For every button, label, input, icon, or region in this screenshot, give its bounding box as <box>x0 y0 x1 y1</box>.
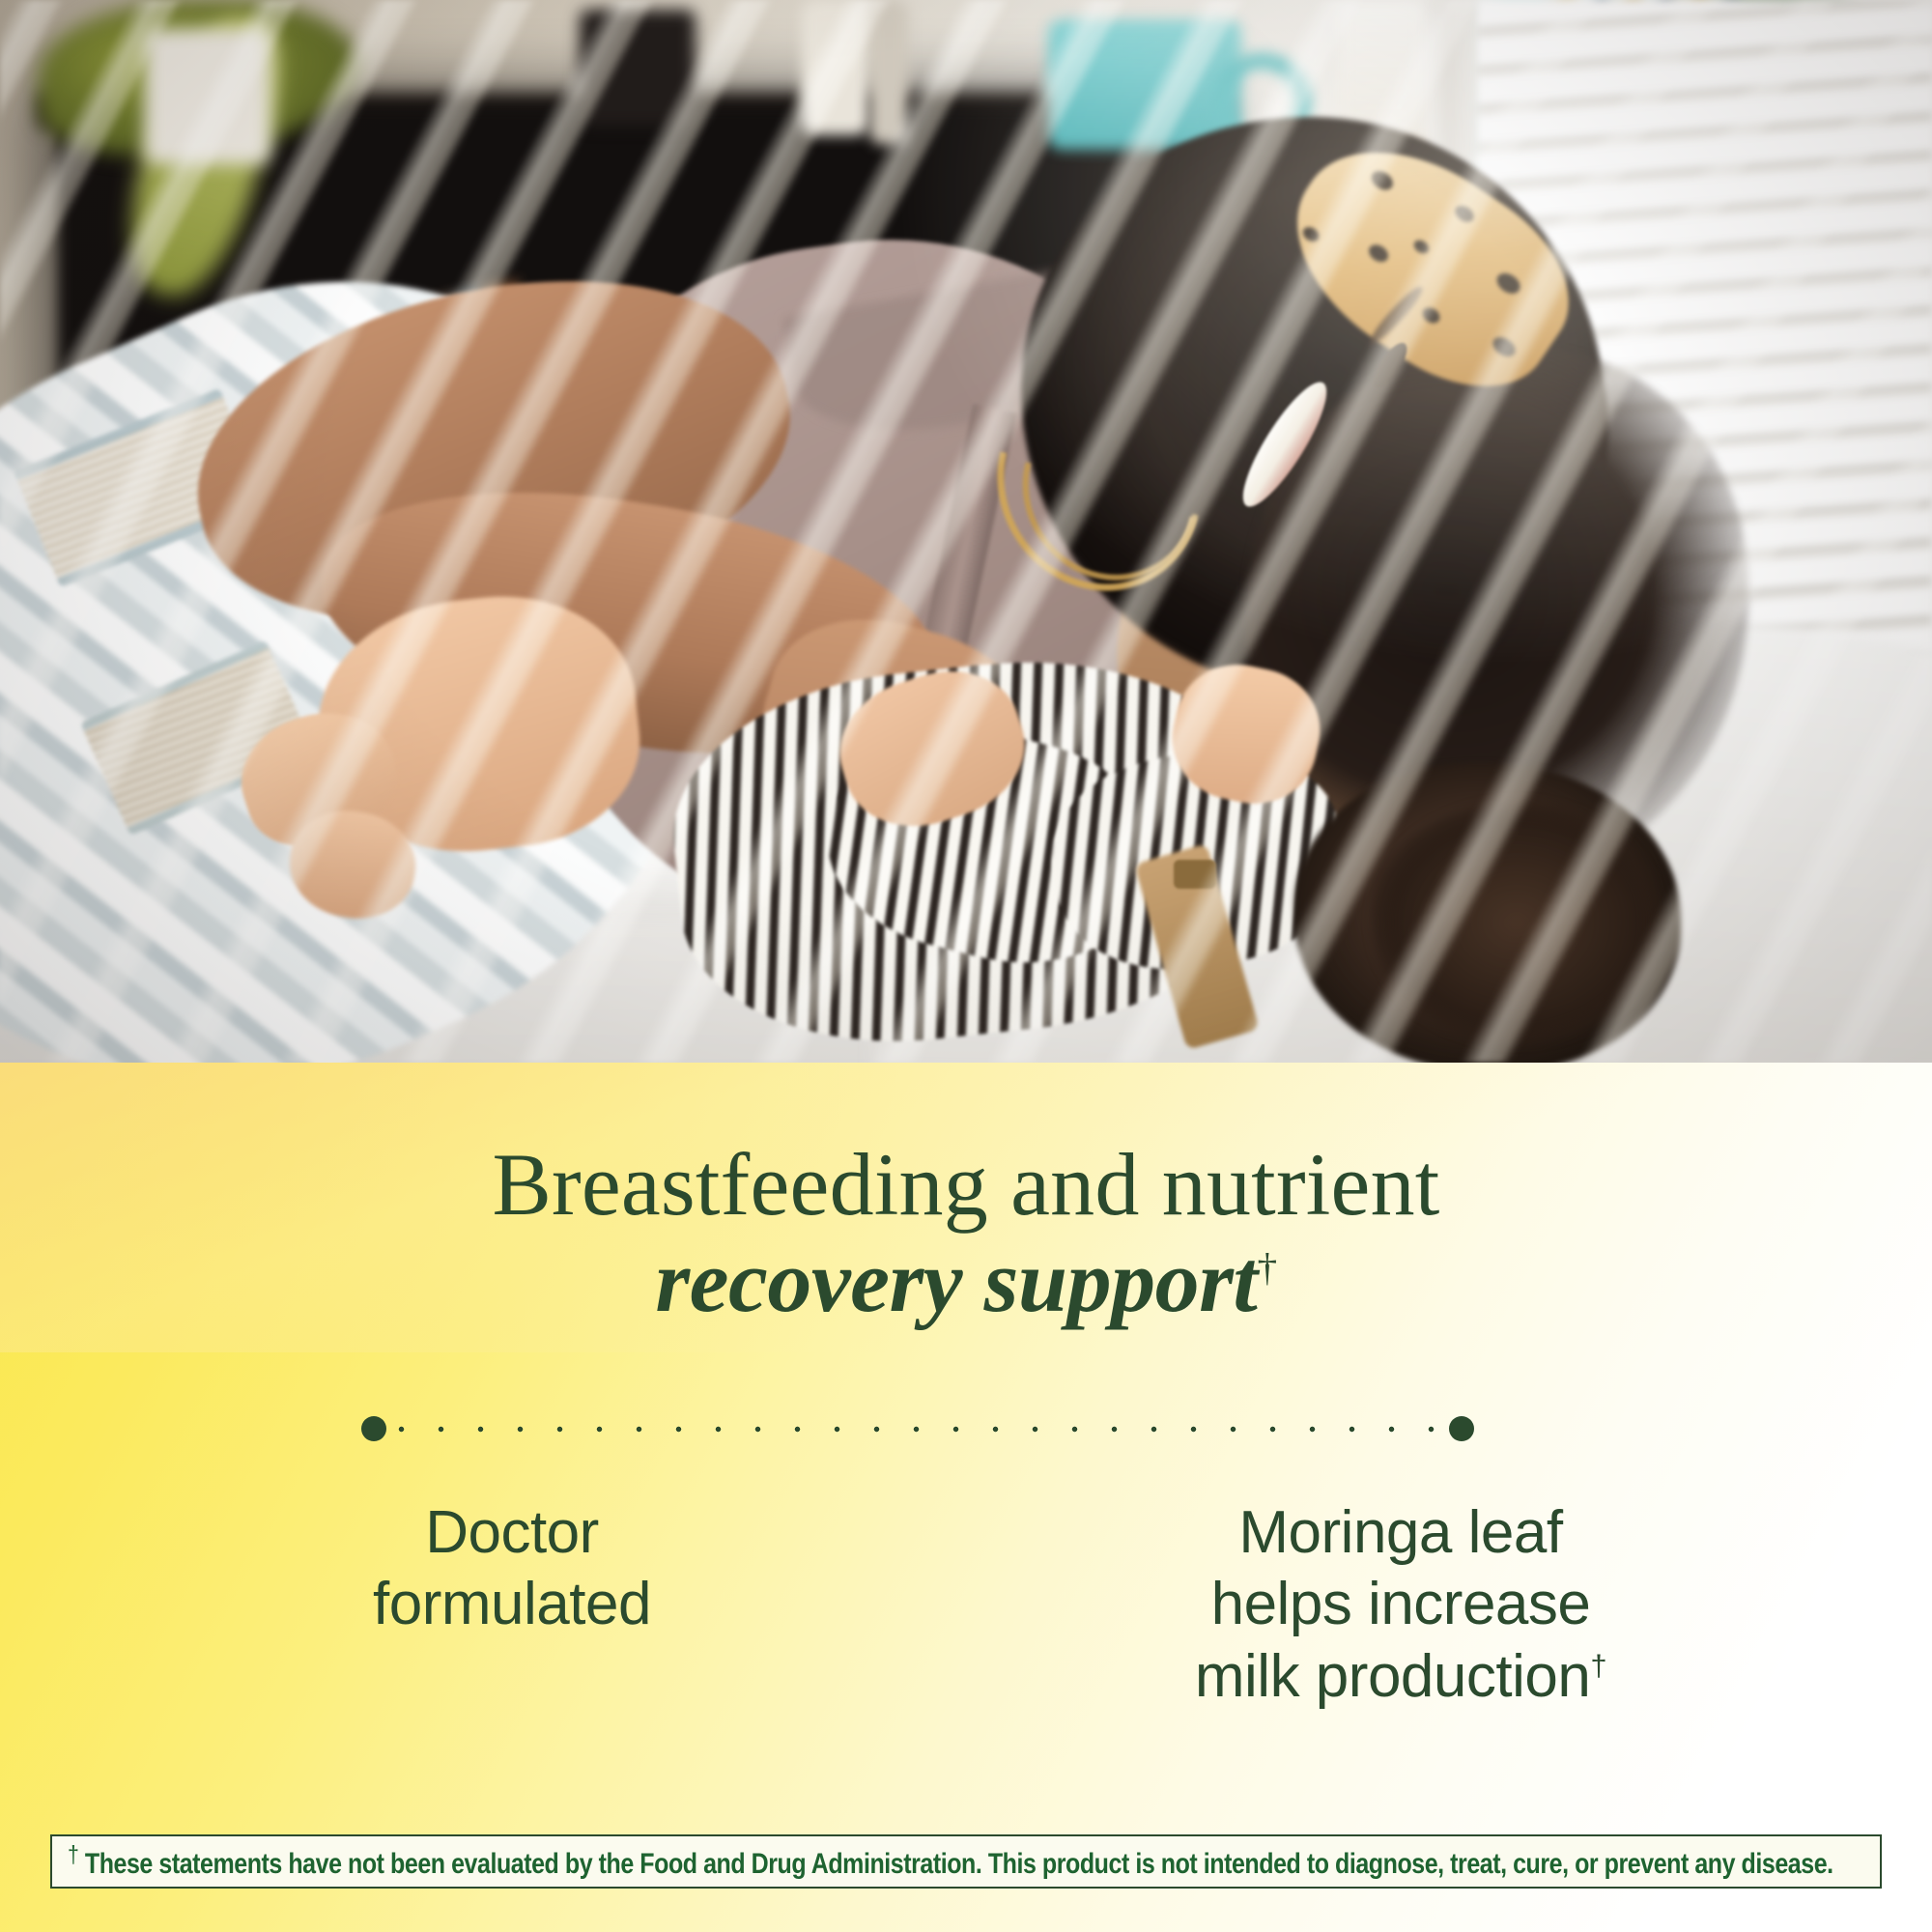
teal-mug-object <box>1048 19 1241 150</box>
feature-line: helps increase <box>956 1569 1845 1640</box>
feature-doctor-formulated: Doctor formulated <box>0 1497 956 1713</box>
feature-line: milk production† <box>956 1641 1845 1713</box>
headline-line-2-text: recovery support <box>655 1232 1257 1330</box>
feature-list: Doctor formulated Moringa leaf helps inc… <box>0 1497 1932 1713</box>
page-title: Breastfeeding and nutrient recovery supp… <box>0 1140 1932 1328</box>
dagger-icon: † <box>1257 1244 1276 1289</box>
dagger-icon: † <box>68 1841 78 1868</box>
fda-disclaimer-text: † These statements have not been evaluat… <box>52 1841 1833 1882</box>
feature-line: Moringa leaf <box>956 1497 1845 1569</box>
feature-moringa-leaf: Moringa leaf helps increase milk product… <box>956 1497 1932 1713</box>
marketing-banner: Breastfeeding and nutrient recovery supp… <box>0 0 1932 1932</box>
fda-disclaimer-body: These statements have not been evaluated… <box>85 1849 1833 1881</box>
dotted-divider <box>362 1416 1473 1441</box>
feature-line: formulated <box>68 1569 956 1640</box>
suspender-buckle <box>1174 860 1216 889</box>
feature-line: Doctor <box>68 1497 956 1569</box>
white-box-object <box>145 29 270 164</box>
dagger-icon: † <box>1590 1648 1606 1682</box>
paper-object-2 <box>869 0 908 145</box>
feature-line-text: milk production <box>1195 1643 1590 1710</box>
baby-hair <box>1372 802 1662 1043</box>
fda-disclaimer-box: † These statements have not been evaluat… <box>50 1834 1882 1889</box>
dark-cup-object <box>580 10 696 126</box>
hero-photo <box>0 0 1932 1063</box>
headline-line-1: Breastfeeding and nutrient <box>0 1140 1932 1231</box>
divider-end-dot-right <box>1449 1416 1474 1441</box>
headline-line-2: recovery support† <box>0 1235 1932 1329</box>
divider-dot-line <box>382 1424 1454 1435</box>
paper-object <box>802 0 869 135</box>
